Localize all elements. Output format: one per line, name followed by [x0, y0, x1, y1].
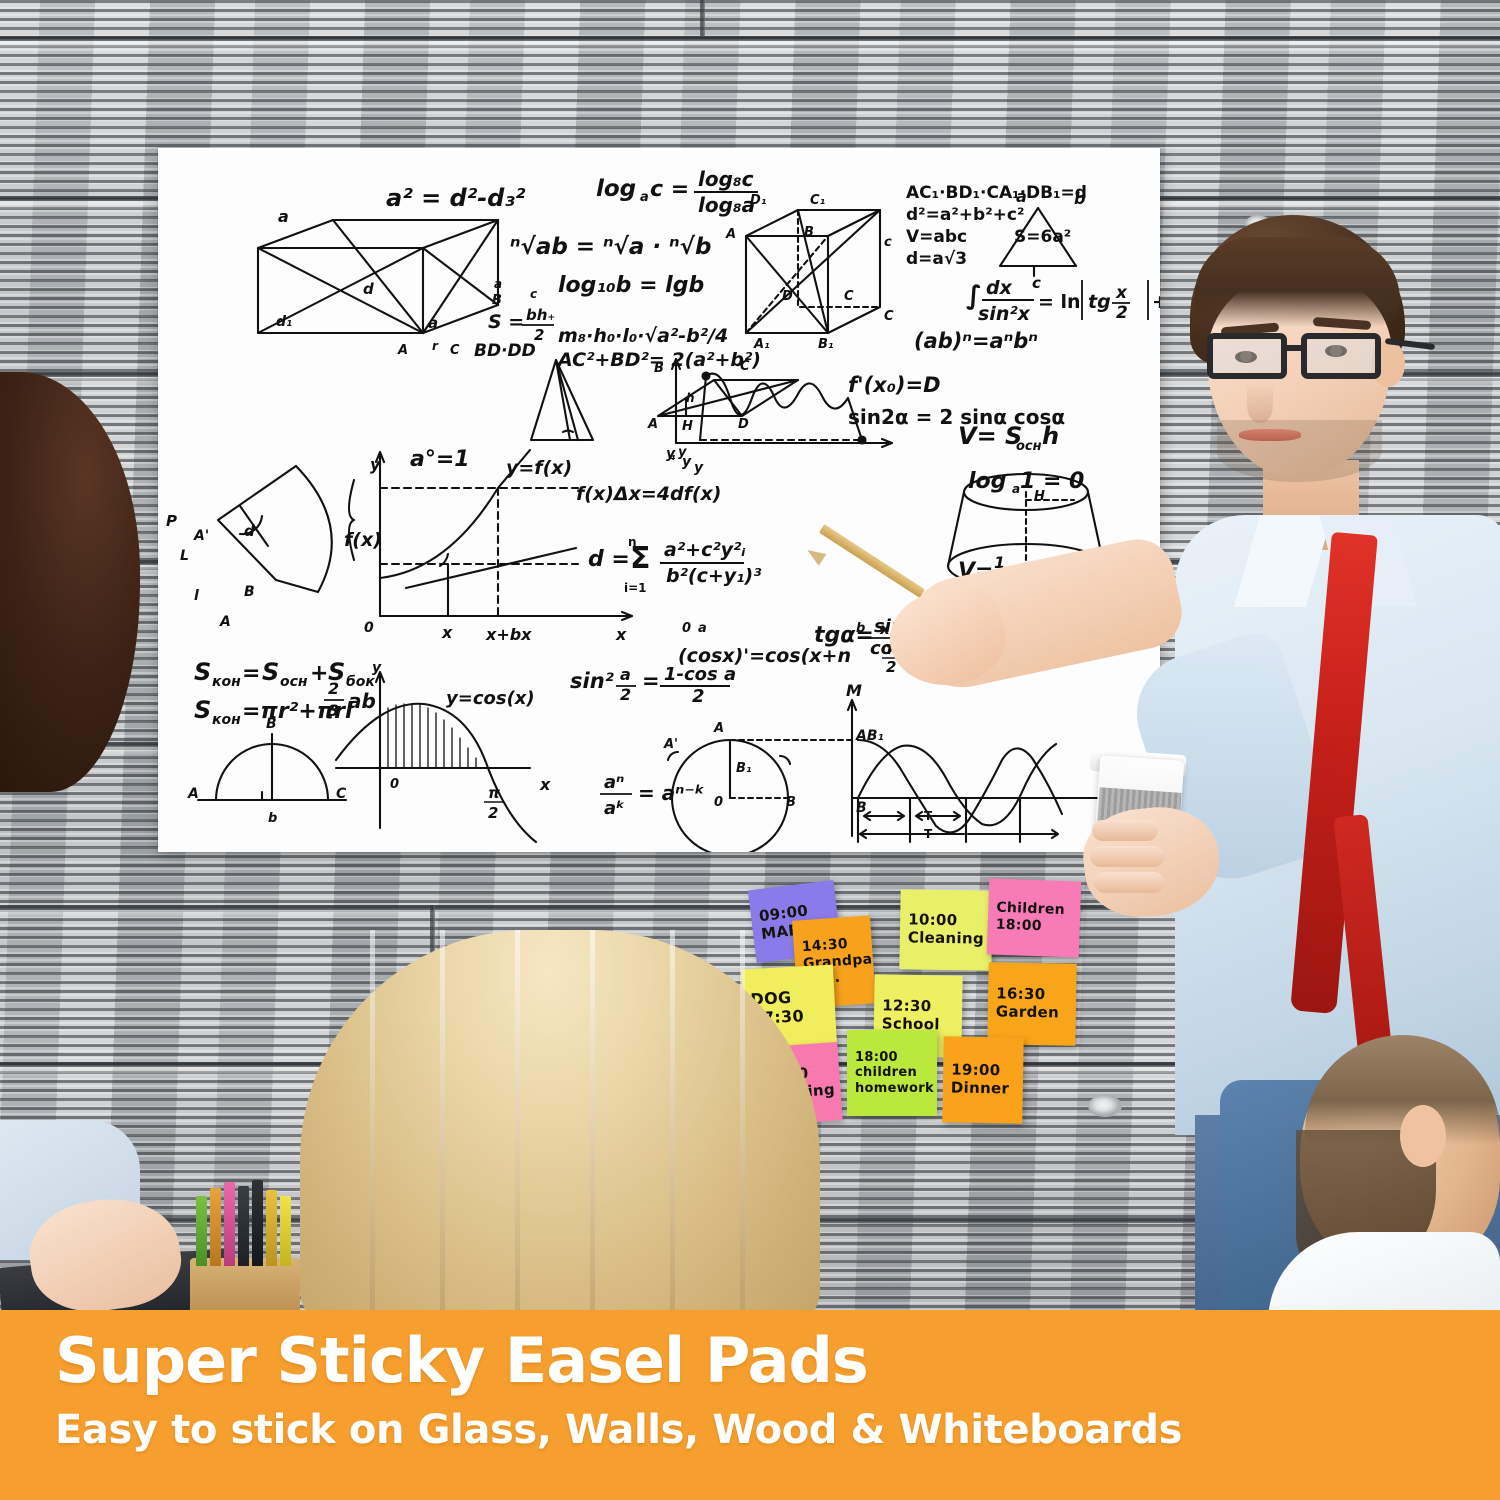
svg-text:a² = d²-d₃²: a² = d²-d₃² — [386, 184, 526, 212]
svg-text:aᵏ: aᵏ — [604, 798, 625, 819]
sticky-note-children18[interactable]: Children 18:00 — [987, 878, 1082, 957]
svg-text:f'(x₀)=D: f'(x₀)=D — [848, 373, 941, 397]
svg-text:=: = — [642, 669, 660, 693]
svg-text:a: a — [1016, 187, 1027, 206]
svg-text:S: S — [194, 696, 211, 724]
svg-text:S: S — [262, 658, 279, 686]
svg-text:(ab)ⁿ=aⁿbⁿ: (ab)ⁿ=aⁿbⁿ — [914, 329, 1038, 353]
svg-text:A: A — [397, 343, 408, 358]
finger — [1092, 820, 1158, 841]
svg-text:C₁: C₁ — [810, 193, 826, 208]
svg-text:= ln: = ln — [1038, 291, 1081, 313]
svg-text:B: B — [244, 584, 255, 600]
svg-text:L: L — [180, 548, 189, 564]
note-task: Children 18:00 — [995, 900, 1072, 936]
svg-text:y: y — [678, 445, 687, 460]
svg-text:x: x — [539, 775, 551, 794]
blonde-woman-head — [300, 930, 820, 1330]
svg-text:bh₊: bh₊ — [526, 306, 555, 324]
note-task: Dinner — [951, 1079, 1015, 1098]
svg-text:y=cos(x): y=cos(x) — [446, 688, 535, 709]
svg-text:m₈·h₀·l₀·√a²-b²/4: m₈·h₀·l₀·√a²-b²/4 — [558, 325, 728, 347]
svg-text:c: c — [1032, 274, 1041, 292]
svg-text:B₁: B₁ — [736, 761, 752, 776]
svg-text:A₁: A₁ — [753, 337, 770, 352]
svg-text:a: a — [698, 621, 707, 636]
svg-text:n: n — [628, 535, 637, 549]
svg-text:0: 0 — [390, 777, 399, 792]
svg-text:2: 2 — [620, 685, 631, 704]
svg-text:осн: осн — [1016, 439, 1042, 454]
colored-pencil — [280, 1196, 291, 1266]
svg-text:h: h — [1042, 422, 1059, 450]
banner-subtitle: Easy to stick on Glass, Walls, Wood & Wh… — [55, 1407, 1182, 1453]
svg-text:C: C — [740, 359, 750, 374]
svg-text:P: P — [166, 512, 177, 530]
hair-strand — [370, 930, 375, 1330]
svg-text:d=a√3: d=a√3 — [906, 249, 967, 269]
svg-text:a: a — [620, 665, 631, 684]
svg-text:₄: ₄ — [670, 449, 676, 464]
colored-pencil — [238, 1186, 249, 1266]
svg-text:C: C — [336, 786, 347, 802]
svg-text:C: C — [884, 309, 894, 324]
presenter-fringe — [1195, 237, 1400, 327]
svg-text:b: b — [1074, 189, 1085, 208]
svg-text:l: l — [194, 588, 199, 604]
svg-text:H: H — [682, 419, 693, 434]
svg-text:d =: d = — [588, 547, 630, 572]
svg-text:a²+c²y²ᵢ: a²+c²y²ᵢ — [664, 539, 746, 561]
svg-text:b²(c+y₁)³: b²(c+y₁)³ — [666, 565, 762, 587]
svg-text:B: B — [804, 225, 814, 240]
svg-text:S=6a²: S=6a² — [1014, 227, 1071, 247]
svg-text:D: D — [782, 289, 793, 304]
svg-text:осн: осн — [280, 674, 308, 690]
colored-pencil — [252, 1180, 263, 1266]
svg-text:a: a — [1012, 482, 1020, 496]
svg-text:D: D — [738, 417, 749, 432]
presenter-mouth — [1239, 429, 1301, 441]
sticky-note-dinner[interactable]: 19:00Dinner — [942, 1036, 1023, 1123]
svg-text:x+bx: x+bx — [485, 625, 532, 644]
wood-knot — [1088, 1095, 1122, 1117]
svg-text:2: 2 — [692, 686, 705, 707]
svg-text:d²=a²+b²+c²: d²=a²+b²+c² — [906, 205, 1024, 225]
svg-text:log₈c: log₈c — [698, 167, 754, 191]
svg-text:d: d — [244, 522, 255, 540]
glasses-bridge — [1287, 345, 1303, 351]
hair-strand — [590, 930, 595, 1330]
hair-strand — [440, 930, 445, 1330]
svg-text:A: A — [647, 417, 658, 432]
svg-text:бок: бок — [346, 674, 375, 690]
lens-left — [1207, 333, 1287, 379]
finger — [1094, 872, 1164, 893]
svg-text:AC₁·BD₁·CA₁·DB₁=d: AC₁·BD₁·CA₁·DB₁=d — [906, 183, 1087, 203]
svg-text:b: b — [268, 811, 277, 826]
svg-text:1-cos a: 1-cos a — [664, 664, 736, 685]
eyeglasses — [1207, 333, 1397, 381]
svg-text:a: a — [494, 277, 502, 291]
product-marketing-image: a² = d²-d₃² a d d₁ a loga c = log₈c log₈… — [0, 0, 1500, 1500]
svg-text:V= S: V= S — [958, 422, 1022, 450]
hair-strand — [515, 930, 520, 1330]
svg-text:AB₁: AB₁ — [855, 728, 884, 744]
svg-text:ⁿ√ab = ⁿ√a · ⁿ√b: ⁿ√ab = ⁿ√a · ⁿ√b — [510, 234, 711, 260]
svg-text:T: T — [924, 809, 933, 823]
svg-text:d: d — [363, 280, 374, 298]
svg-text:y: y — [370, 455, 381, 474]
svg-text:f(x)Δx=4df(x): f(x)Δx=4df(x) — [576, 483, 721, 505]
easel-pad-board[interactable]: a² = d²-d₃² a d d₁ a loga c = log₈c log₈… — [158, 148, 1160, 852]
svg-text:x: x — [441, 623, 453, 642]
svg-text:log: log — [596, 176, 636, 202]
svg-text:y=f(x): y=f(x) — [506, 457, 572, 479]
note-task: Cleaning — [908, 929, 984, 948]
svg-text:aⁿ: aⁿ — [604, 772, 624, 793]
svg-text:B: B — [786, 795, 796, 810]
svg-text:B: B — [266, 716, 277, 732]
note-time: 18:00 — [855, 1050, 929, 1065]
svg-text:кон: кон — [212, 712, 241, 728]
plank-vertical-seam — [700, 0, 705, 36]
sticky-note-cleaning[interactable]: 10:00Cleaning — [899, 889, 992, 971]
svg-text:log₁₀b = lgb: log₁₀b = lgb — [558, 273, 704, 298]
svg-text:r: r — [432, 339, 439, 353]
svg-text:c =: c = — [650, 177, 689, 202]
svg-text:C: C — [844, 289, 854, 304]
svg-text:x: x — [1115, 283, 1128, 303]
svg-text:log: log — [968, 469, 1006, 494]
svg-text:y: y — [372, 660, 382, 676]
svg-text:3: 3 — [328, 701, 339, 720]
svg-text:π: π — [488, 784, 500, 802]
svg-text:0: 0 — [682, 621, 691, 636]
svg-text:C: C — [450, 343, 460, 358]
svg-text:B₁: B₁ — [818, 337, 834, 352]
bearded-man-ear — [1400, 1105, 1446, 1167]
sticky-note-homework[interactable]: 18:00children homework — [847, 1030, 937, 1116]
svg-text:sin²x: sin²x — [978, 303, 1031, 325]
svg-text:=: = — [242, 661, 260, 686]
hair-strand — [740, 930, 745, 1330]
svg-text:A: A — [713, 721, 724, 736]
svg-text:A': A' — [193, 528, 209, 544]
svg-text:+: + — [310, 661, 328, 686]
svg-text:c: c — [884, 235, 892, 250]
promo-banner: Super Sticky Easel Pads Easy to stick on… — [0, 1310, 1500, 1500]
colored-pencil — [266, 1190, 277, 1266]
svg-text:1 = 0: 1 = 0 — [1020, 469, 1084, 494]
plank-highlight — [0, 41, 1500, 51]
svg-text:tg: tg — [1088, 291, 1111, 313]
svg-text:2: 2 — [488, 804, 498, 822]
svg-text:ab: ab — [348, 689, 376, 713]
lens-right — [1301, 333, 1381, 379]
svg-text:dx: dx — [986, 277, 1013, 299]
svg-text:c: c — [530, 287, 537, 301]
svg-text:f(x): f(x) — [344, 529, 382, 551]
svg-text:S =: S = — [488, 311, 524, 333]
glasses-temple — [1385, 338, 1435, 350]
colored-pencil — [224, 1182, 235, 1266]
svg-text:a: a — [640, 190, 649, 205]
sticky-note-garden[interactable]: 16:30Garden — [987, 962, 1076, 1046]
svg-text:D₁: D₁ — [750, 193, 767, 208]
note-task: children homework — [855, 1065, 929, 1096]
svg-text:x: x — [615, 625, 627, 644]
finger — [1090, 846, 1164, 867]
svg-text:a: a — [428, 314, 438, 332]
svg-text:2: 2 — [1116, 303, 1128, 323]
svg-text:h: h — [686, 391, 695, 405]
colored-pencil — [196, 1196, 207, 1266]
svg-text:log₈a: log₈a — [698, 193, 755, 217]
banner-title: Super Sticky Easel Pads — [55, 1324, 868, 1397]
svg-text:i=1: i=1 — [624, 581, 647, 595]
svg-text:0: 0 — [364, 620, 374, 636]
svg-text:A: A — [219, 614, 231, 630]
svg-text:a°=1: a°=1 — [410, 447, 470, 472]
note-task: Garden — [996, 1003, 1068, 1022]
svg-text:y: y — [694, 460, 704, 476]
svg-text:A': A' — [663, 737, 678, 752]
svg-text:tgα=: tgα= — [814, 623, 874, 648]
svg-text:sin²: sin² — [570, 669, 615, 693]
svg-text:V=abc: V=abc — [906, 227, 967, 247]
svg-text:M: M — [846, 681, 862, 700]
presenter-nose — [1247, 383, 1273, 423]
colored-pencil — [210, 1188, 221, 1266]
svg-text:A: A — [725, 227, 736, 242]
svg-text:a: a — [278, 207, 289, 226]
svg-text:B: B — [492, 293, 502, 308]
svg-text:BD·DD: BD·DD — [474, 341, 536, 361]
svg-text:кон: кон — [212, 674, 241, 690]
svg-text:B: B — [654, 361, 664, 376]
svg-text:2: 2 — [328, 679, 339, 698]
svg-text:T: T — [924, 827, 933, 841]
svg-text:B: B — [856, 800, 867, 816]
svg-text:sin2α = 2 sinα cosα: sin2α = 2 sinα cosα — [848, 405, 1065, 429]
handwritten-math-formulas: a² = d²-d₃² a d d₁ a loga c = log₈c log₈… — [158, 148, 1160, 852]
svg-text:0: 0 — [714, 795, 723, 810]
svg-text:2: 2 — [886, 658, 896, 676]
svg-text:= aⁿ⁻ᵏ: = aⁿ⁻ᵏ — [638, 781, 705, 805]
svg-text:d₁: d₁ — [276, 314, 292, 330]
svg-text:S: S — [194, 658, 211, 686]
svg-text:A: A — [187, 786, 199, 802]
svg-text:H: H — [1034, 489, 1045, 504]
hair-strand — [670, 930, 675, 1330]
